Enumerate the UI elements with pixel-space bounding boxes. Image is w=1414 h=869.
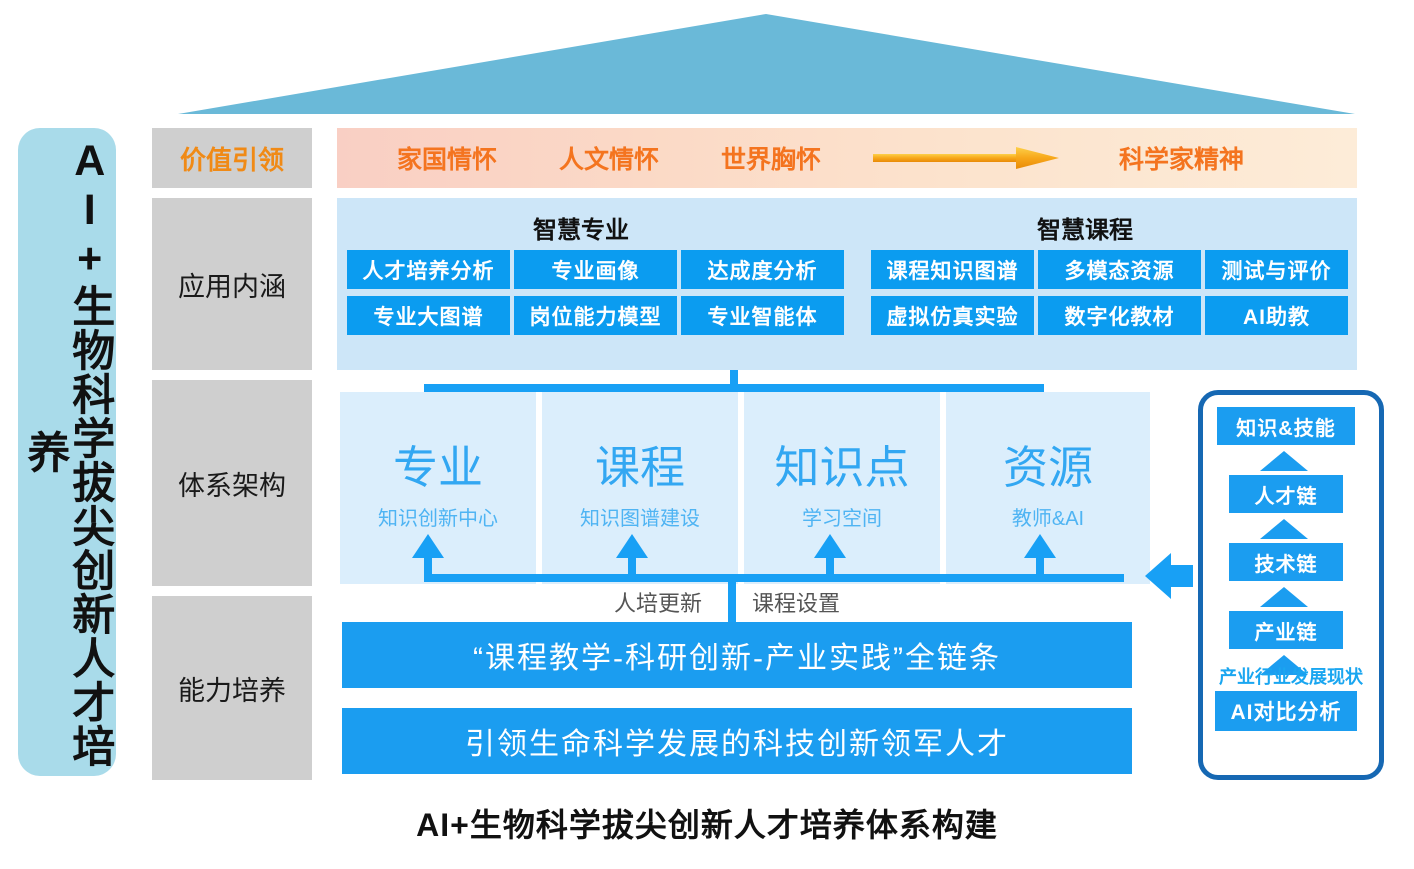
chain-box-talent-chain[interactable]: 人才链	[1229, 475, 1343, 513]
pillar-knowledge-subtitle: 学习空间	[802, 502, 882, 531]
connector-stem-bottom	[728, 574, 736, 622]
tile-job-competency[interactable]: 岗位能力模型	[514, 296, 677, 335]
value-item-2: 世界胸怀	[721, 140, 821, 176]
connector-bus-top	[424, 384, 1044, 392]
tile-attainment[interactable]: 达成度分析	[681, 250, 844, 289]
row-label-architecture: 体系架构	[152, 380, 312, 586]
row-label-value: 价值引领	[152, 128, 312, 188]
ability-bar-full-chain: “课程教学-科研创新-产业实践”全链条	[342, 622, 1132, 688]
tile-test-eval[interactable]: 测试与评价	[1205, 250, 1348, 289]
arrowhead-up-2	[814, 534, 846, 558]
tile-multimodal[interactable]: 多模态资源	[1038, 250, 1201, 289]
pillar-course-title: 课程	[595, 445, 685, 490]
connector-rise-3	[1036, 556, 1044, 578]
tile-ai-assistant[interactable]: AI助教	[1205, 296, 1348, 335]
value-guidance-band: 家国情怀 人文情怀 世界胸怀 科学家精神	[337, 128, 1357, 188]
group-heading-smart-course: 智慧课程	[1037, 210, 1133, 245]
figure-caption: AI+生物科学拔尖创新人才培养体系构建	[0, 800, 1414, 846]
right-arrow-icon	[873, 147, 1059, 169]
arrowhead-up-1	[616, 534, 648, 558]
pillar-major-title: 专业	[393, 445, 483, 490]
tile-major-graph[interactable]: 专业大图谱	[347, 296, 510, 335]
pillar-resource-subtitle: 教师&AI	[1012, 502, 1084, 531]
chain-arrow-up-2	[1260, 519, 1308, 539]
chain-note-industry-status: 产业行业发展现状	[1203, 663, 1379, 689]
chain-box-tech-chain[interactable]: 技术链	[1229, 543, 1343, 581]
sidebar-title-text: AI+生物科学拔尖创新人才培养	[22, 128, 111, 776]
pillar-resource-title: 资源	[1003, 445, 1093, 490]
feedback-label-course-setup: 课程设置	[744, 586, 848, 618]
pillar-course-subtitle: 知识图谱建设	[580, 502, 700, 531]
industry-chain-panel: 知识&技能 人才链 技术链 产业链 产业行业发展现状 AI对比分析	[1198, 390, 1384, 780]
pillar-major-subtitle: 知识创新中心	[378, 502, 498, 531]
arrowhead-up-3	[1024, 534, 1056, 558]
roof-triangle	[178, 14, 1355, 114]
chain-arrow-up-1	[1260, 451, 1308, 471]
connector-rise-2	[826, 556, 834, 578]
row-label-ability: 能力培养	[152, 596, 312, 780]
group-heading-smart-major: 智慧专业	[533, 210, 629, 245]
connector-bus-bottom	[424, 574, 1124, 582]
row-label-application: 应用内涵	[152, 198, 312, 370]
connector-rise-1	[628, 556, 636, 578]
value-item-1: 人文情怀	[559, 140, 659, 176]
tile-virtual-lab[interactable]: 虚拟仿真实验	[871, 296, 1034, 335]
tile-course-graph[interactable]: 课程知识图谱	[871, 250, 1034, 289]
feedback-label-talent-update: 人培更新	[606, 586, 710, 618]
arrow-left-from-chain-icon	[1145, 553, 1193, 599]
tile-major-profile[interactable]: 专业画像	[514, 250, 677, 289]
chain-box-ai-comparison[interactable]: AI对比分析	[1215, 691, 1357, 731]
chain-box-industry-chain[interactable]: 产业链	[1229, 611, 1343, 649]
chain-arrow-up-3	[1260, 587, 1308, 607]
ability-bar-leading-talent: 引领生命科学发展的科技创新领军人才	[342, 708, 1132, 774]
sidebar-vertical-title: AI+生物科学拔尖创新人才培养	[18, 128, 116, 776]
value-item-3: 科学家精神	[1119, 140, 1244, 176]
tile-talent-analysis[interactable]: 人才培养分析	[347, 250, 510, 289]
tile-major-agent[interactable]: 专业智能体	[681, 296, 844, 335]
tile-digital-textbook[interactable]: 数字化教材	[1038, 296, 1201, 335]
application-panel: 智慧专业 智慧课程 人才培养分析 专业画像 达成度分析 专业大图谱 岗位能力模型…	[337, 198, 1357, 370]
arrowhead-up-0	[412, 534, 444, 558]
value-item-0: 家国情怀	[397, 140, 497, 176]
pillar-knowledge-title: 知识点	[774, 445, 909, 490]
chain-box-knowledge-skill[interactable]: 知识&技能	[1217, 407, 1355, 445]
connector-rise-0	[424, 556, 432, 578]
